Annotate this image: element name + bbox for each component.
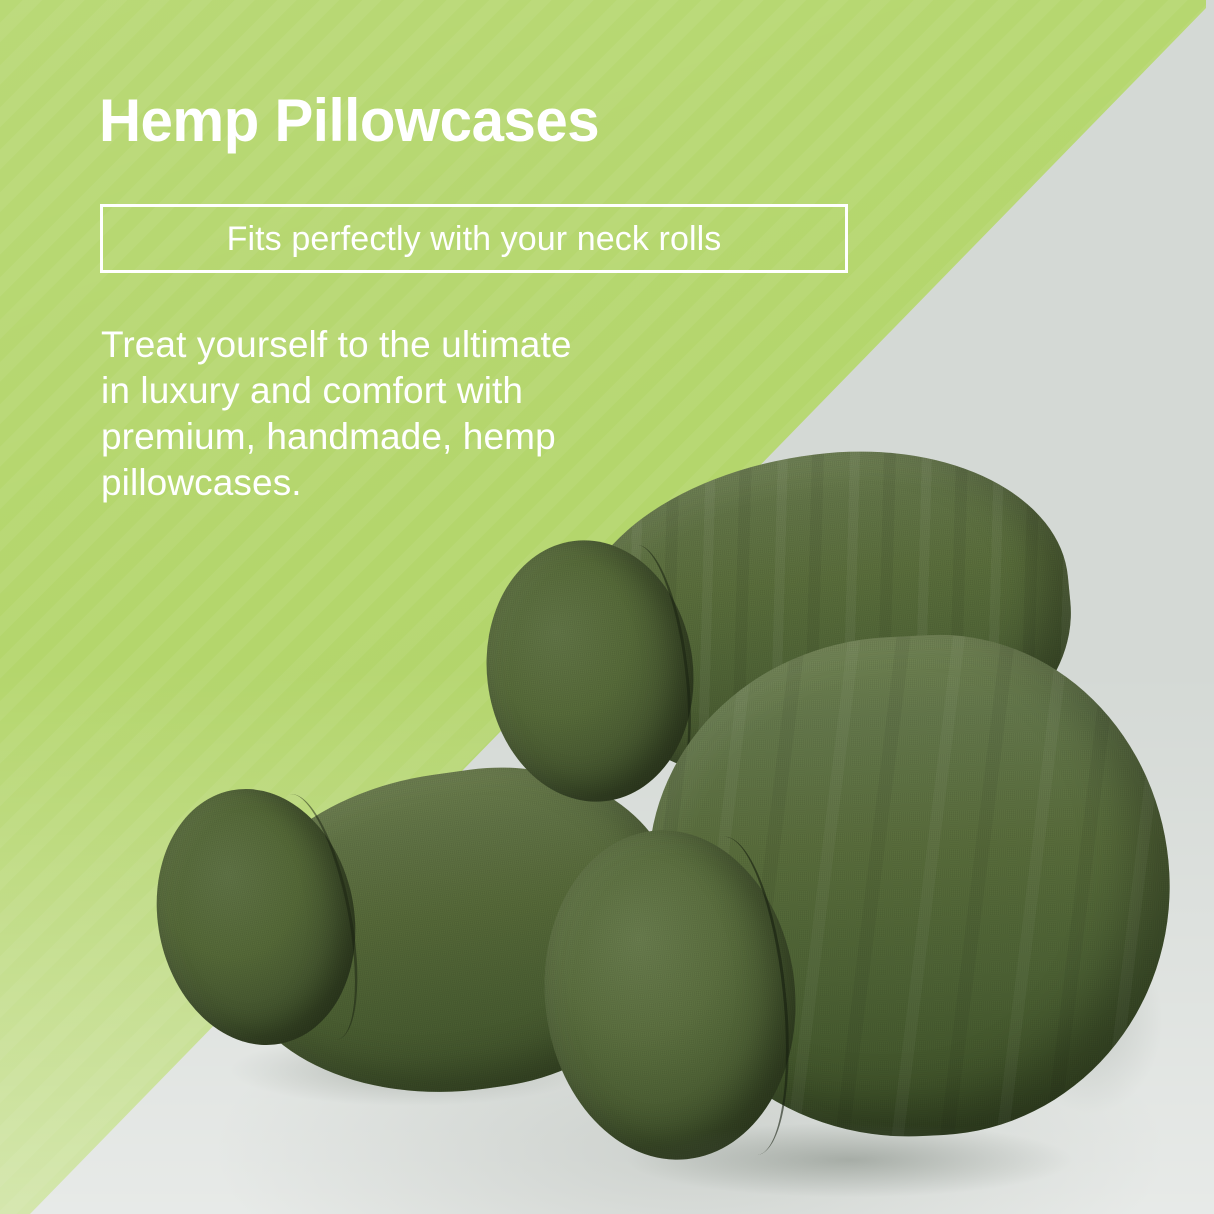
subtitle-callout-box: Fits perfectly with your neck rolls [100, 204, 848, 273]
body-copy-line-4: pillowcases. [101, 460, 741, 506]
page-title: Hemp Pillowcases [99, 87, 599, 155]
subtitle-text: Fits perfectly with your neck rolls [227, 219, 722, 259]
body-copy-line-3: premium, handmade, hemp [101, 414, 741, 460]
body-copy-line-1: Treat yourself to the ultimate [101, 322, 741, 368]
body-copy: Treat yourself to the ultimate in luxury… [101, 322, 741, 506]
product-banner: Hemp Pillowcases Fits perfectly with you… [0, 0, 1214, 1214]
product-image-group [0, 0, 1214, 1214]
body-copy-line-2: in luxury and comfort with [101, 368, 741, 414]
front-bolster-pillow [545, 650, 1170, 1190]
